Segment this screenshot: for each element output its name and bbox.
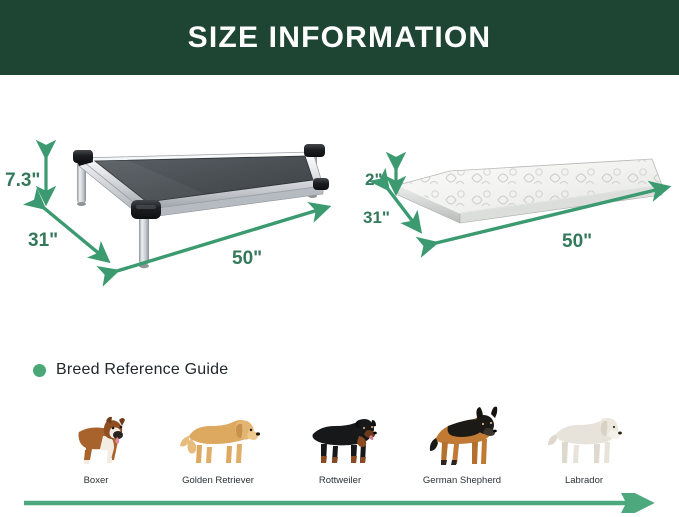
- breed-item-boxer: Boxer: [40, 402, 152, 486]
- breed-list: Boxer: [40, 396, 640, 486]
- bed-corner-cap-back-right: [304, 144, 325, 157]
- breed-item-labrador: Labrador: [528, 402, 640, 486]
- bed-corner-cap-front-right: [313, 178, 329, 190]
- german-shepherd-image: [426, 402, 498, 470]
- breed-label-golden-retriever: Golden Retriever: [182, 475, 254, 486]
- size-scale-arrow: [22, 493, 658, 513]
- labrador-image: [544, 402, 624, 470]
- breed-item-rottweiler: Rottweiler: [284, 402, 396, 486]
- pad-depth-label: 31": [363, 208, 390, 228]
- elevated-bed-illustration: [55, 128, 345, 278]
- pad-width-label: 50": [562, 231, 592, 253]
- mattress-pad-illustration: [390, 145, 670, 255]
- breed-guide-title: Breed Reference Guide: [56, 361, 228, 379]
- bed-height-label: 7.3": [5, 170, 40, 192]
- breed-label-boxer: Boxer: [84, 475, 109, 486]
- size-information-infographic: SIZE INFORMATION: [0, 0, 679, 517]
- header-banner: SIZE INFORMATION: [0, 0, 679, 75]
- breed-label-labrador: Labrador: [565, 475, 603, 486]
- breed-label-rottweiler: Rottweiler: [319, 475, 361, 486]
- breed-label-german-shepherd: German Shepherd: [423, 475, 501, 486]
- golden-retriever-image: [175, 402, 261, 470]
- breed-item-german-shepherd: German Shepherd: [406, 402, 518, 486]
- page-title: SIZE INFORMATION: [188, 21, 492, 55]
- bed-width-label: 50": [232, 248, 262, 270]
- bed-depth-label: 31": [28, 230, 58, 252]
- bullet-dot-icon: [33, 364, 46, 377]
- breed-guide-heading: Breed Reference Guide: [33, 361, 228, 379]
- boxer-image: [61, 402, 131, 470]
- bed-corner-cap-front-left: [131, 200, 161, 219]
- rottweiler-image: [301, 402, 379, 470]
- breed-item-golden-retriever: Golden Retriever: [162, 402, 274, 486]
- pad-height-label: 2": [365, 170, 383, 190]
